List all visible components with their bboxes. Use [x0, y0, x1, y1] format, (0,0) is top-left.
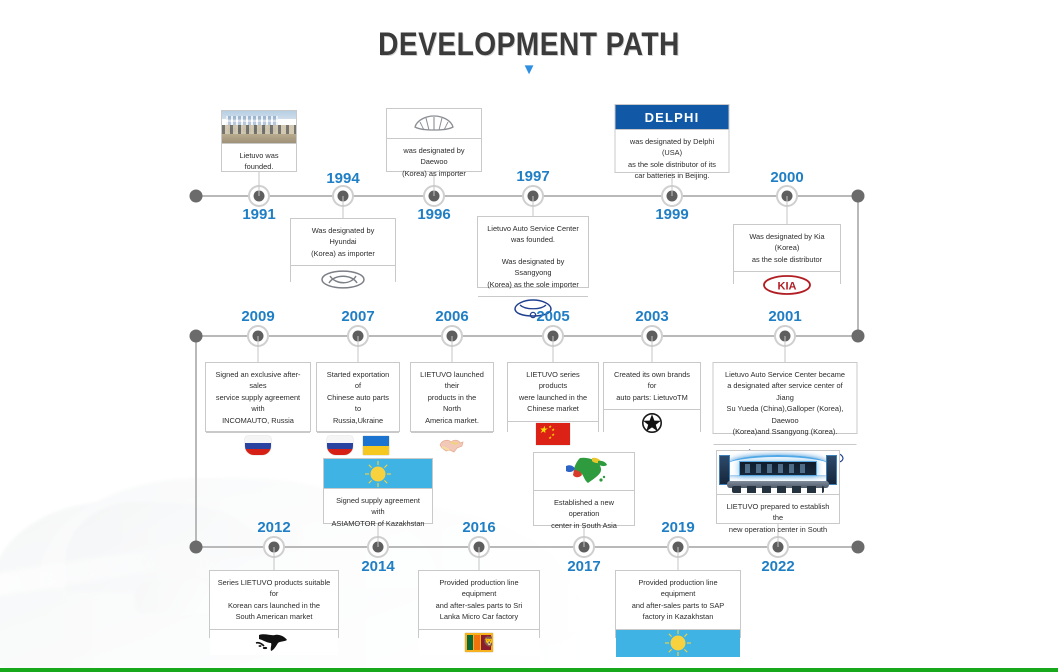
milestone-text-2022: LIETUVO prepared to establish the new op…	[717, 495, 839, 541]
milestone-card-1996[interactable]: was designated by Daewoo (Korea) as impo…	[386, 108, 482, 172]
rail-end-dot-row1-left	[190, 190, 203, 203]
daewoo-logo-icon	[387, 109, 481, 139]
flag-sri-lanka-icon: 🦁	[419, 629, 539, 655]
stem-1997	[533, 196, 534, 216]
rail-end-dot-row1-right	[852, 190, 865, 203]
milestone-card-2017[interactable]: Established a new operation center in So…	[533, 452, 635, 526]
rail-end-dot-row2-right	[852, 330, 865, 343]
milestone-text-2001: Lietuvo Auto Service Center became a des…	[714, 363, 857, 444]
milestone-card-2003[interactable]: Created its own brands for auto parts: L…	[603, 362, 701, 432]
milestone-card-1994[interactable]: Was designated by Hyundai (Korea) as imp…	[290, 218, 396, 282]
milestone-text-1996: was designated by Daewoo (Korea) as impo…	[387, 139, 481, 185]
infographic-canvas: DEVELOPMENT PATH ▼ 1991 Lietuvo was foun…	[0, 0, 1058, 672]
milestone-text-2012: Series LIETUVO products suitable for Kor…	[210, 571, 338, 629]
milestone-text-1991: Lietuvo was founded.	[222, 144, 296, 179]
year-label-2009: 2009	[241, 308, 274, 325]
stem-1994	[343, 196, 344, 218]
flag-kazakhstan-icon	[324, 459, 432, 489]
rail-end-dot-row3-right	[852, 541, 865, 554]
year-label-2014: 2014	[361, 558, 394, 575]
year-label-2012: 2012	[257, 519, 290, 536]
stem-2003	[652, 336, 653, 362]
milestone-card-2007[interactable]: Started exportation of Chinese auto part…	[316, 362, 400, 432]
milestone-card-1999[interactable]: DELPHI was designated by Delphi (USA) as…	[615, 104, 730, 173]
flag-russia-ukraine-icon	[317, 432, 399, 458]
milestone-text-2016: Provided production line equipment and a…	[419, 571, 539, 629]
milestone-text-1994: Was designated by Hyundai (Korea) as imp…	[291, 219, 395, 265]
year-label-2000: 2000	[770, 169, 803, 186]
ssangyong-logo-icon	[478, 296, 588, 321]
page-title: DEVELOPMENT PATH	[63, 26, 994, 63]
lietuvo-star-logo-icon	[604, 409, 700, 435]
year-label-1997: 1997	[516, 168, 549, 185]
timeline-rail-row-2	[196, 335, 858, 337]
stem-2000	[787, 196, 788, 224]
delphi-wordmark: DELPHI	[645, 110, 700, 125]
rail-end-dot-row2-left	[190, 330, 203, 343]
bottom-green-rule	[0, 668, 1058, 672]
milestone-card-1997[interactable]: Lietuvo Auto Service Center was founded.…	[477, 216, 589, 288]
kia-logo-icon: KIA	[734, 271, 840, 297]
photo-building-icon	[222, 111, 296, 144]
year-label-2001: 2001	[768, 308, 801, 325]
milestone-card-2016[interactable]: Provided production line equipment and a…	[418, 570, 540, 638]
milestone-card-2012[interactable]: Series LIETUVO products suitable for Kor…	[209, 570, 339, 638]
milestone-card-2022[interactable]: LIETUVO prepared to establish the new op…	[716, 450, 840, 524]
milestone-text-2006: LIETUVO launched their products in the N…	[411, 363, 493, 432]
milestone-text-2003: Created its own brands for auto parts: L…	[604, 363, 700, 409]
year-label-2005: 2005	[536, 308, 569, 325]
year-label-2016: 2016	[462, 519, 495, 536]
timeline-rail-row-3	[196, 546, 858, 548]
milestone-text-1997: Lietuvo Auto Service Center was founded.…	[478, 217, 588, 296]
hyundai-logo-icon	[291, 265, 395, 292]
stem-2007	[358, 336, 359, 362]
triangle-down-icon: ▼	[0, 62, 1058, 77]
photo-operation-room-icon	[717, 451, 839, 495]
stem-2006	[452, 336, 453, 362]
milestone-card-2001[interactable]: Lietuvo Auto Service Center became a des…	[713, 362, 858, 434]
stem-2005	[553, 336, 554, 362]
milestone-card-2014[interactable]: Signed supply agreement with ASIAMOTOR o…	[323, 458, 433, 524]
flag-russia-icon	[206, 432, 310, 458]
stem-2012	[274, 547, 275, 570]
delphi-logo-icon: DELPHI	[616, 105, 729, 130]
stem-2016	[479, 547, 480, 570]
milestone-card-1991[interactable]: Lietuvo was founded.	[221, 110, 297, 172]
year-label-2017: 2017	[567, 558, 600, 575]
year-label-1991: 1991	[242, 206, 275, 223]
year-label-2003: 2003	[635, 308, 668, 325]
year-label-2007: 2007	[341, 308, 374, 325]
stem-2009	[258, 336, 259, 362]
milestone-text-2009: Signed an exclusive after-sales service …	[206, 363, 310, 432]
rail-connector-right	[857, 196, 859, 336]
map-south-america-icon	[210, 629, 338, 655]
milestone-text-2007: Started exportation of Chinese auto part…	[317, 363, 399, 432]
milestone-card-2006[interactable]: LIETUVO launched their products in the N…	[410, 362, 494, 432]
milestone-card-2000[interactable]: Was designated by Kia (Korea) as the sol…	[733, 224, 841, 284]
milestone-text-1999: was designated by Delphi (USA) as the so…	[616, 130, 729, 188]
milestone-text-2005: LIETUVO series products were launched in…	[508, 363, 598, 421]
map-south-asia-icon	[534, 453, 634, 491]
year-label-2022: 2022	[761, 558, 794, 575]
milestone-text-2014: Signed supply agreement with ASIAMOTOR o…	[324, 489, 432, 535]
rail-connector-left	[195, 336, 197, 547]
milestone-card-2009[interactable]: Signed an exclusive after-sales service …	[205, 362, 311, 432]
milestone-card-2019[interactable]: Provided production line equipment and a…	[615, 570, 741, 638]
svg-text:KIA: KIA	[778, 280, 797, 292]
stem-2019	[678, 547, 679, 570]
milestone-text-2000: Was designated by Kia (Korea) as the sol…	[734, 225, 840, 271]
milestone-card-2005[interactable]: LIETUVO series products were launched in…	[507, 362, 599, 432]
year-label-2006: 2006	[435, 308, 468, 325]
rail-end-dot-row3-left	[190, 541, 203, 554]
year-label-1996: 1996	[417, 206, 450, 223]
year-label-2019: 2019	[661, 519, 694, 536]
flag-china-icon: ★★★★★	[508, 421, 598, 447]
milestone-text-2017: Established a new operation center in So…	[534, 491, 634, 537]
milestone-text-2019: Provided production line equipment and a…	[616, 571, 740, 629]
year-label-1999: 1999	[655, 206, 688, 223]
flag-kazakhstan-icon-2	[616, 629, 740, 657]
stem-2001	[785, 336, 786, 362]
map-north-america-icon	[411, 432, 493, 458]
year-label-1994: 1994	[326, 170, 359, 187]
